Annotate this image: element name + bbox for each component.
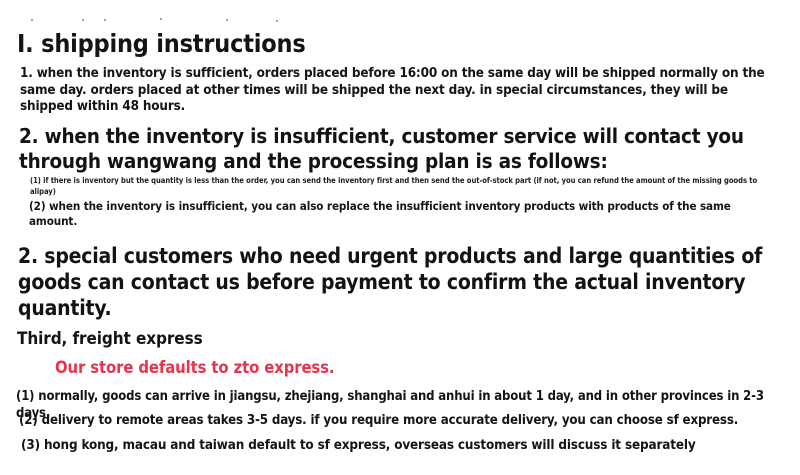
shipping-paragraph-1: 1. when the inventory is sufficient, ord…: [20, 66, 784, 116]
scan-speckle-decoration: [0, 0, 800, 26]
default-courier-note: Our store defaults to zto express.: [55, 357, 334, 378]
delivery-time-item-3: (3) hong kong, macau and taiwan default …: [21, 437, 795, 454]
policy-page: I. shipping instructions 1. when the inv…: [0, 0, 800, 475]
insufficient-inventory-heading: 2. when the inventory is insufficient, c…: [19, 124, 759, 174]
delivery-time-item-2: (2) delivery to remote areas takes 3-5 d…: [19, 412, 795, 429]
page-title: I. shipping instructions: [17, 29, 306, 59]
fine-print-partial-shipment: (1) if there is inventory but the quanti…: [30, 175, 775, 197]
freight-express-heading: Third, freight express: [17, 328, 203, 350]
special-customers-heading: 2. special customers who need urgent pro…: [18, 243, 790, 321]
sub-item-replacement-products: (2) when the inventory is insufficient, …: [29, 199, 769, 229]
